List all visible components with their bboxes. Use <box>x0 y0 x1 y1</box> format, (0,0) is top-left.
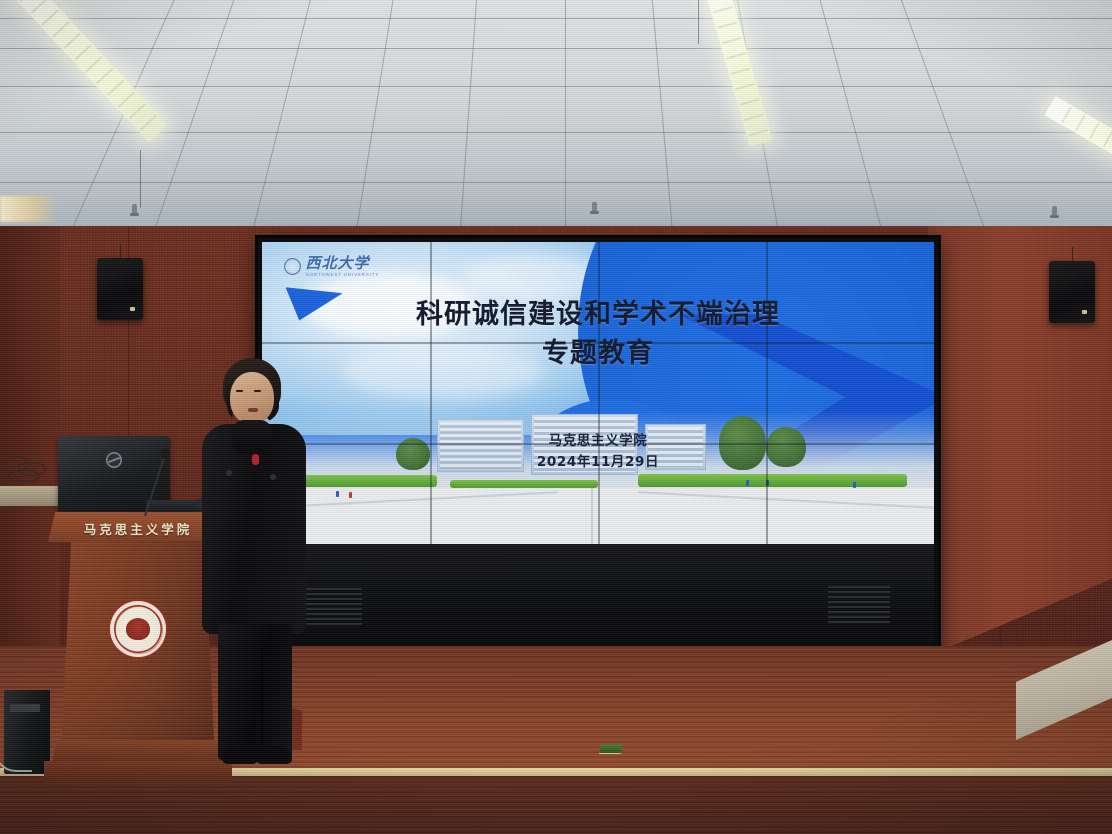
logo-chinese-name: 西北大学 <box>306 256 380 271</box>
presenter-lapel-pin <box>252 454 259 465</box>
presenter-collar <box>232 420 272 454</box>
ceiling <box>0 0 1112 236</box>
wall-speaker-left <box>97 258 143 320</box>
ceiling-wire-right <box>698 0 699 44</box>
cable-bundle <box>2 452 60 488</box>
ceiling-cove-light <box>0 196 58 222</box>
side-table <box>0 486 64 506</box>
campus-lawn-mid <box>450 480 598 488</box>
logo-english-name: NORTHWEST UNIVERSITY <box>306 273 380 277</box>
power-cable <box>0 700 32 772</box>
presenter-shoe-left <box>222 746 258 764</box>
presenter <box>196 358 326 778</box>
campus-lawn-right <box>638 474 907 487</box>
sprinkler-right <box>1052 206 1057 217</box>
vent-grille-right <box>828 586 890 626</box>
ceiling-wire-left <box>140 150 141 208</box>
video-wall[interactable]: 西北大学 NORTHWEST UNIVERSITY 科研诚信建设和学术不端治理 … <box>258 238 938 656</box>
podium-front-panel <box>62 541 214 741</box>
presenter-coat-button-1 <box>226 470 232 476</box>
presenter-coat-button-2 <box>270 474 276 480</box>
campus-figure-1 <box>336 491 339 497</box>
campus-path-center <box>591 488 593 544</box>
green-object-on-stage <box>599 744 623 753</box>
speaker-led-left <box>130 307 135 311</box>
ceiling-tile-grid <box>0 0 1112 236</box>
presenter-leg-gap <box>261 648 263 744</box>
wall-speaker-right <box>1049 261 1095 323</box>
presentation-slide: 西北大学 NORTHWEST UNIVERSITY 科研诚信建设和学术不端治理 … <box>262 242 934 544</box>
dell-logo-icon <box>106 452 122 468</box>
sprinkler-left <box>132 204 137 215</box>
speaker-led-right <box>1082 310 1087 314</box>
slide-university-logo: 西北大学 NORTHWEST UNIVERSITY <box>284 256 380 277</box>
lecture-hall-photo: 西北大学 NORTHWEST UNIVERSITY 科研诚信建设和学术不端治理 … <box>0 0 1112 834</box>
campus-figure-2 <box>349 492 352 498</box>
presenter-shoe-right <box>256 746 292 764</box>
campus-figure-5 <box>853 482 856 488</box>
sprinkler-center <box>592 202 597 213</box>
video-wall-base-panel <box>262 544 934 652</box>
video-wall-screen[interactable]: 西北大学 NORTHWEST UNIVERSITY 科研诚信建设和学术不端治理 … <box>262 242 934 544</box>
presenter-legs <box>218 624 292 760</box>
university-seal-icon <box>284 258 301 275</box>
campus-figure-3 <box>746 480 749 486</box>
presenter-mouth <box>248 408 258 412</box>
university-emblem-icon <box>110 601 166 657</box>
emblem-center-motif <box>126 618 150 640</box>
